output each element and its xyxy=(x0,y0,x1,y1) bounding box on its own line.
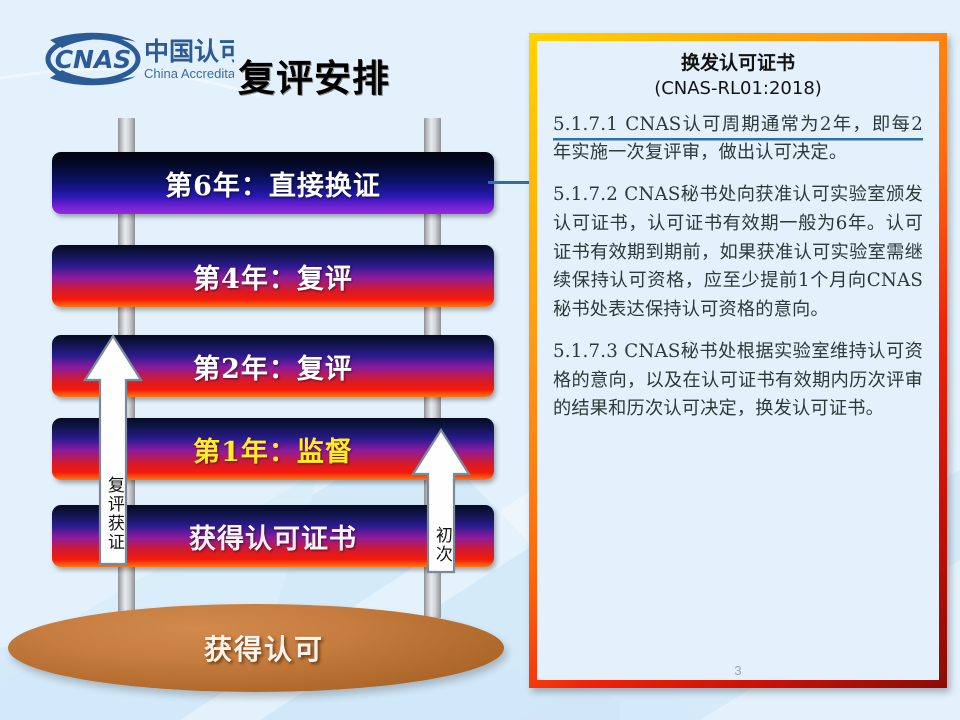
ground-label: 获得认可 xyxy=(188,628,324,668)
slide-canvas: CNAS 中国认可 China Accreditation 复评安排 第6年：直… xyxy=(0,0,960,720)
info-panel-inner: 换发认可证书 (CNAS-RL01:2018) 5.1.7.1 CNAS认可周期… xyxy=(537,41,939,680)
ladder-rung-year6[interactable]: 第6年：直接换证 xyxy=(52,152,494,214)
ladder-diagram: 第6年：直接换证 第4年：复评 第2年：复评 第1年：监督 获得认可证书 复评获… xyxy=(0,0,520,720)
ladder-rung-label: 第2年：复评 xyxy=(193,347,353,386)
ground-accreditation: 获得认可 xyxy=(8,604,504,692)
ladder-rung-label: 第4年：复评 xyxy=(193,257,353,296)
clause-paragraph-5-1-7-1: 5.1.7.1 CNAS认可周期通常为2年，即每2年实施一次复评审，做出认可决定… xyxy=(553,111,923,169)
up-arrow-label: 初次 xyxy=(430,526,452,564)
up-arrow-label: 复评获证 xyxy=(102,476,124,552)
ladder-rung-label: 第6年：直接换证 xyxy=(165,164,381,203)
up-arrow-reassessment: 复评获证 xyxy=(82,334,144,566)
ladder-rung-year4[interactable]: 第4年：复评 xyxy=(52,245,494,307)
ladder-rung-label: 获得认可证书 xyxy=(189,517,357,556)
clause-paragraph-5-1-7-3: 5.1.7.3 CNAS秘书处根据实验室维持认可资格的意向，以及在认可证书有效期… xyxy=(553,338,923,424)
info-panel-subtitle: (CNAS-RL01:2018) xyxy=(553,78,923,99)
ladder-rung-label: 第1年：监督 xyxy=(193,430,353,469)
page-number: 3 xyxy=(537,663,939,678)
info-panel: 换发认可证书 (CNAS-RL01:2018) 5.1.7.1 CNAS认可周期… xyxy=(529,33,947,688)
up-arrow-initial: 初次 xyxy=(410,428,472,574)
info-panel-title: 换发认可证书 xyxy=(553,51,923,77)
clause-paragraph-5-1-7-2: 5.1.7.2 CNAS秘书处向获准认可实验室颁发认可证书，认可证书有效期一般为… xyxy=(553,181,923,325)
